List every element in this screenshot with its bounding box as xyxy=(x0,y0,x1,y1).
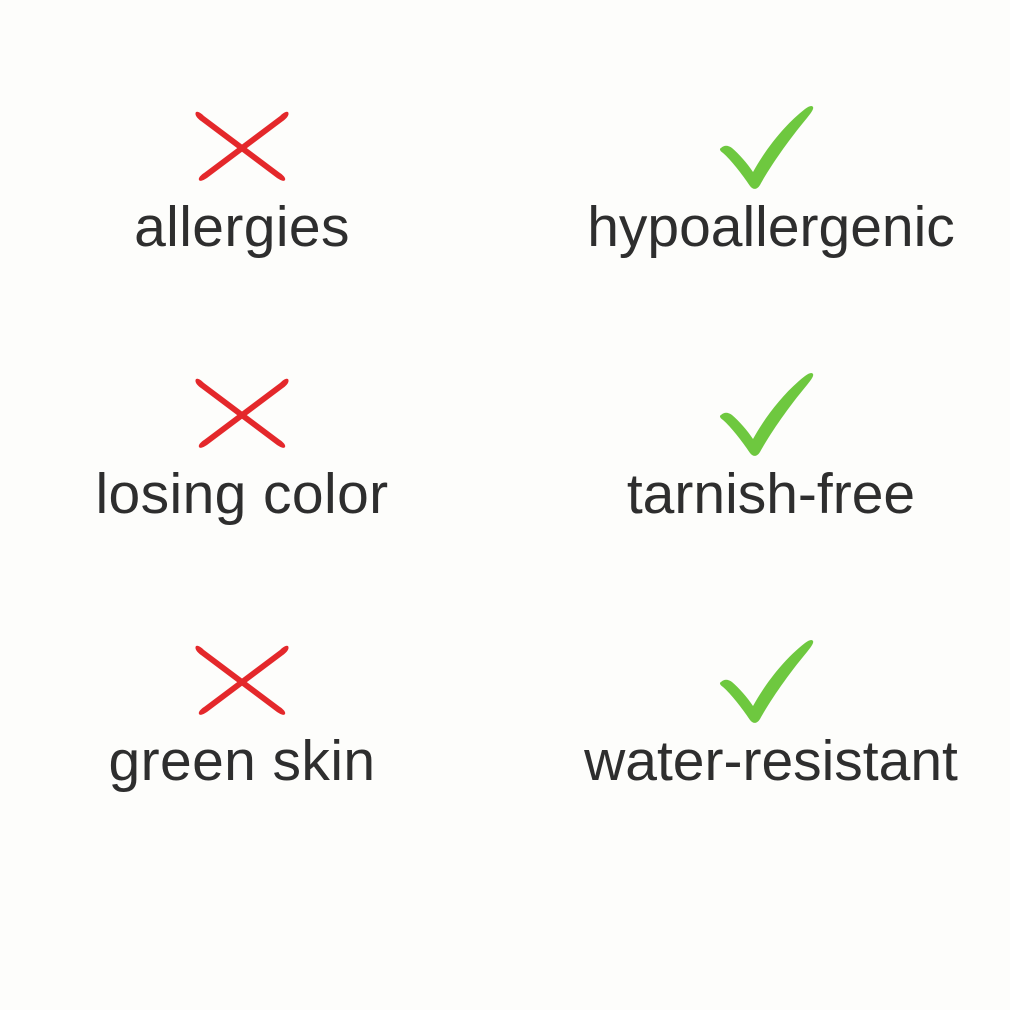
comparison-grid: allergies hypoallergenic losing color ta… xyxy=(0,96,1010,897)
check-icon xyxy=(711,96,831,192)
cross-icon xyxy=(182,363,302,459)
check-icon xyxy=(711,630,831,726)
comparison-label: green skin xyxy=(109,732,376,792)
comparison-item-positive: tarnish-free xyxy=(505,363,1010,630)
benefits-comparison-board: allergies hypoallergenic losing color ta… xyxy=(0,0,1010,1010)
cross-icon xyxy=(182,96,302,192)
comparison-label: tarnish-free xyxy=(627,465,915,525)
comparison-item-negative: allergies xyxy=(0,96,505,363)
cross-icon xyxy=(182,630,302,726)
comparison-label: losing color xyxy=(95,465,388,525)
comparison-label: hypoallergenic xyxy=(587,198,955,258)
comparison-label: allergies xyxy=(134,198,350,258)
comparison-label: water-resistant xyxy=(584,732,958,792)
comparison-item-negative: green skin xyxy=(0,630,505,897)
check-icon xyxy=(711,363,831,459)
comparison-item-positive: hypoallergenic xyxy=(505,96,1010,363)
comparison-item-negative: losing color xyxy=(0,363,505,630)
comparison-item-positive: water-resistant xyxy=(505,630,1010,897)
